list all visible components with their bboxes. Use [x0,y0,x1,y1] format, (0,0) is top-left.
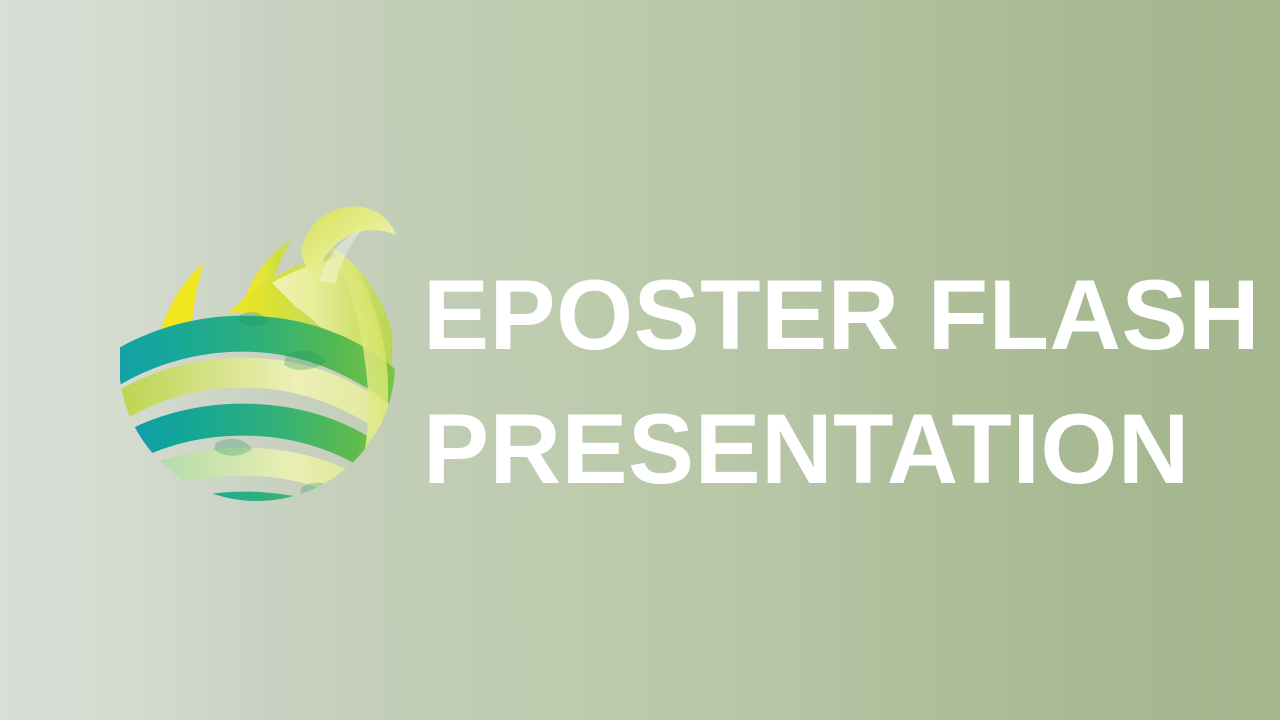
page-title-line-2: PRESENTATION [423,382,1213,516]
logo-ribbon-7 [120,448,405,515]
logo-ribbon-8 [120,492,405,515]
globe-ribbon-leaf-logo [120,205,405,515]
page-title-line-1: EPOSTER FLASH [423,248,1213,382]
presentation-slide: EPOSTER FLASH PRESENTATION [0,0,1280,720]
logo-ribbon-group [120,235,405,515]
page-title: EPOSTER FLASH PRESENTATION [423,248,1213,516]
